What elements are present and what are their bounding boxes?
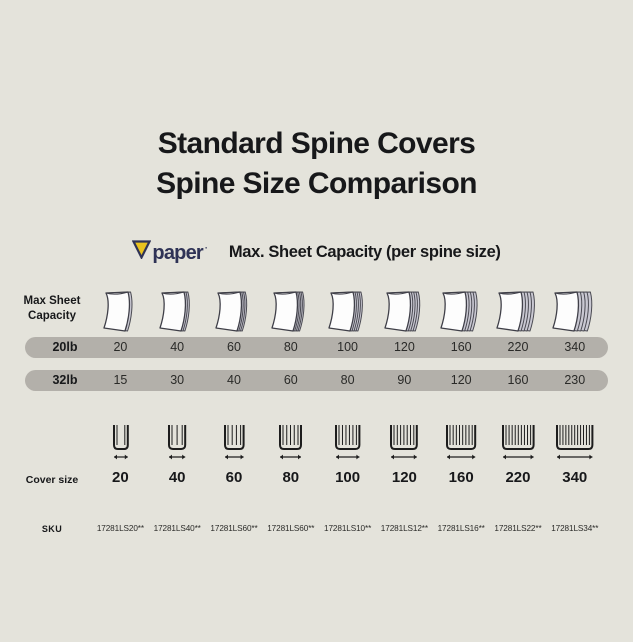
paper-stack-icon [376,276,433,334]
capacity-value-20lb: 80 [262,340,319,354]
sku-value: 17281LS60** [262,524,319,533]
sku-value: 17281LS16** [433,524,490,533]
paper-stack-icon [262,276,319,334]
sku-value: 17281LS60** [206,524,263,533]
cover-size-value: 40 [149,469,206,486]
cover-size-label: Cover size [0,474,104,486]
brand-subtitle-row: paper · Max. Sheet Capacity (per spine s… [0,240,633,265]
cover-size-value: 20 [92,469,149,486]
paper-stack-icon [319,276,376,334]
spine-size-icon [490,413,547,465]
page-title-line-2: Spine Size Comparison [0,164,633,204]
capacity-value-20lb: 340 [546,340,603,354]
logo-wordmark: paper [152,242,202,265]
capacity-value-20lb: 60 [206,340,263,354]
page-title: Standard Spine Covers Spine Size Compari… [0,124,633,203]
capacity-value-20lb: 40 [149,340,206,354]
sku-value: 17281LS34** [546,524,603,533]
sku-value: 17281LS40** [149,524,206,533]
spine-size-icon [92,413,149,465]
cover-size-cells: 20406080100120160220340 [92,469,633,486]
sku-value: 17281LS20** [92,524,149,533]
capacity-value-32lb: 230 [546,373,603,387]
cover-size-value: 220 [490,469,547,486]
capacity-value-32lb: 160 [490,373,547,387]
cover-size-row: Cover size 20406080100120160220340 [0,469,633,493]
spine-icon-row [0,413,633,465]
paper-stack-icon [546,276,603,334]
logo-v-icon [132,240,151,259]
cover-size-value: 340 [546,469,603,486]
spine-size-icon [319,413,376,465]
capacity-value-20lb: 220 [490,340,547,354]
paper-stack-icon [490,276,547,334]
capacity-value-20lb: 120 [376,340,433,354]
spine-size-icon [149,413,206,465]
cover-size-value: 100 [319,469,376,486]
capacity-value-20lb: 160 [433,340,490,354]
logo-trademark-icon: · [205,243,208,253]
paper-stack-icon [433,276,490,334]
paper-stack-icon [149,276,206,334]
paper-stack-cells [92,276,633,334]
capacity-cells-20lb: 20406080100120160220340 [92,340,633,354]
cover-size-value: 60 [206,469,263,486]
spine-size-icon [376,413,433,465]
capacity-row-20lb: 20lb 20406080100120160220340 [0,337,633,358]
sku-cells: 17281LS20**17281LS40**17281LS60**17281LS… [92,524,633,533]
capacity-value-32lb: 80 [319,373,376,387]
capacity-value-20lb: 100 [319,340,376,354]
spine-size-icon [546,413,603,465]
capacity-value-32lb: 15 [92,373,149,387]
vpaper-logo: paper · [132,240,206,265]
spine-size-icon [262,413,319,465]
spine-comparison-table: Max Sheet Capacity 20lb 2040608010012016… [0,276,633,541]
cover-size-value: 120 [376,469,433,486]
sku-value: 17281LS12** [376,524,433,533]
spine-icon-cells [92,413,633,465]
spine-size-icon [433,413,490,465]
sku-row: SKU 17281LS20**17281LS40**17281LS60**172… [0,521,633,541]
capacity-value-32lb: 40 [206,373,263,387]
sku-value: 17281LS10** [319,524,376,533]
spine-size-icon [206,413,263,465]
cover-size-value: 80 [262,469,319,486]
page-title-line-1: Standard Spine Covers [0,124,633,164]
capacity-value-32lb: 30 [149,373,206,387]
capacity-value-32lb: 90 [376,373,433,387]
capacity-value-32lb: 60 [262,373,319,387]
subtitle: Max. Sheet Capacity (per spine size) [229,243,501,262]
capacity-row-32lb: 32lb 153040608090120160230 [0,370,633,391]
capacity-cells-32lb: 153040608090120160230 [92,373,633,387]
max-sheet-capacity-label: Max Sheet Capacity [0,294,104,324]
paper-stack-icon [92,276,149,334]
sku-value: 17281LS22** [490,524,547,533]
capacity-value-20lb: 20 [92,340,149,354]
cover-size-value: 160 [433,469,490,486]
sku-label: SKU [0,524,104,534]
paper-stack-row: Max Sheet Capacity [0,276,633,334]
capacity-value-32lb: 120 [433,373,490,387]
paper-stack-icon [206,276,263,334]
